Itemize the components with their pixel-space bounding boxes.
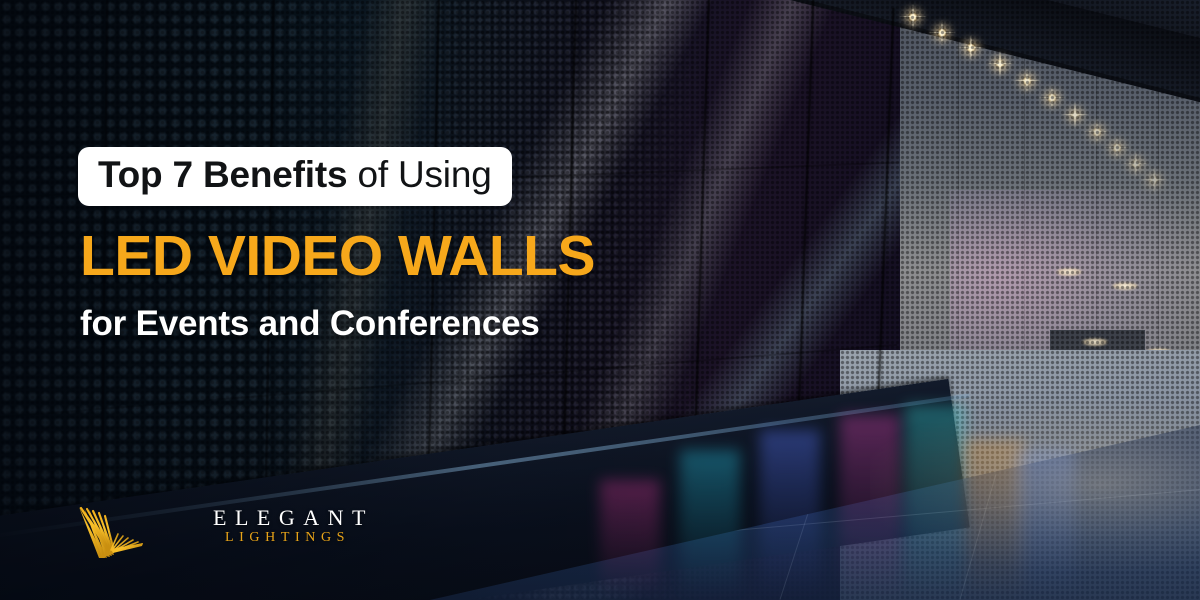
brand-tagline: LIGHTINGS [225,530,374,547]
headline-line-3: for Events and Conferences [80,305,540,344]
headline-line-1: Top 7 Benefits of Using [98,156,492,195]
headline-line-1-regular: of Using [347,154,491,195]
headline-line-1-bold: Top 7 Benefits [98,154,347,195]
brand-name: ELEGANT [213,505,374,530]
banner-content: Top 7 Benefits of Using LED VIDEO WALLS … [0,0,1200,600]
headline-line-2: LED VIDEO WALLS [80,228,595,285]
sunburst-fan-icon [78,501,144,563]
headline-line-1-pill: Top 7 Benefits of Using [78,147,512,206]
brand-logo[interactable]: ELEGANT LIGHTINGS [78,497,378,567]
brand-logo-text: ELEGANT LIGHTINGS [213,505,374,547]
blog-banner: Top 7 Benefits of Using LED VIDEO WALLS … [0,0,1200,600]
